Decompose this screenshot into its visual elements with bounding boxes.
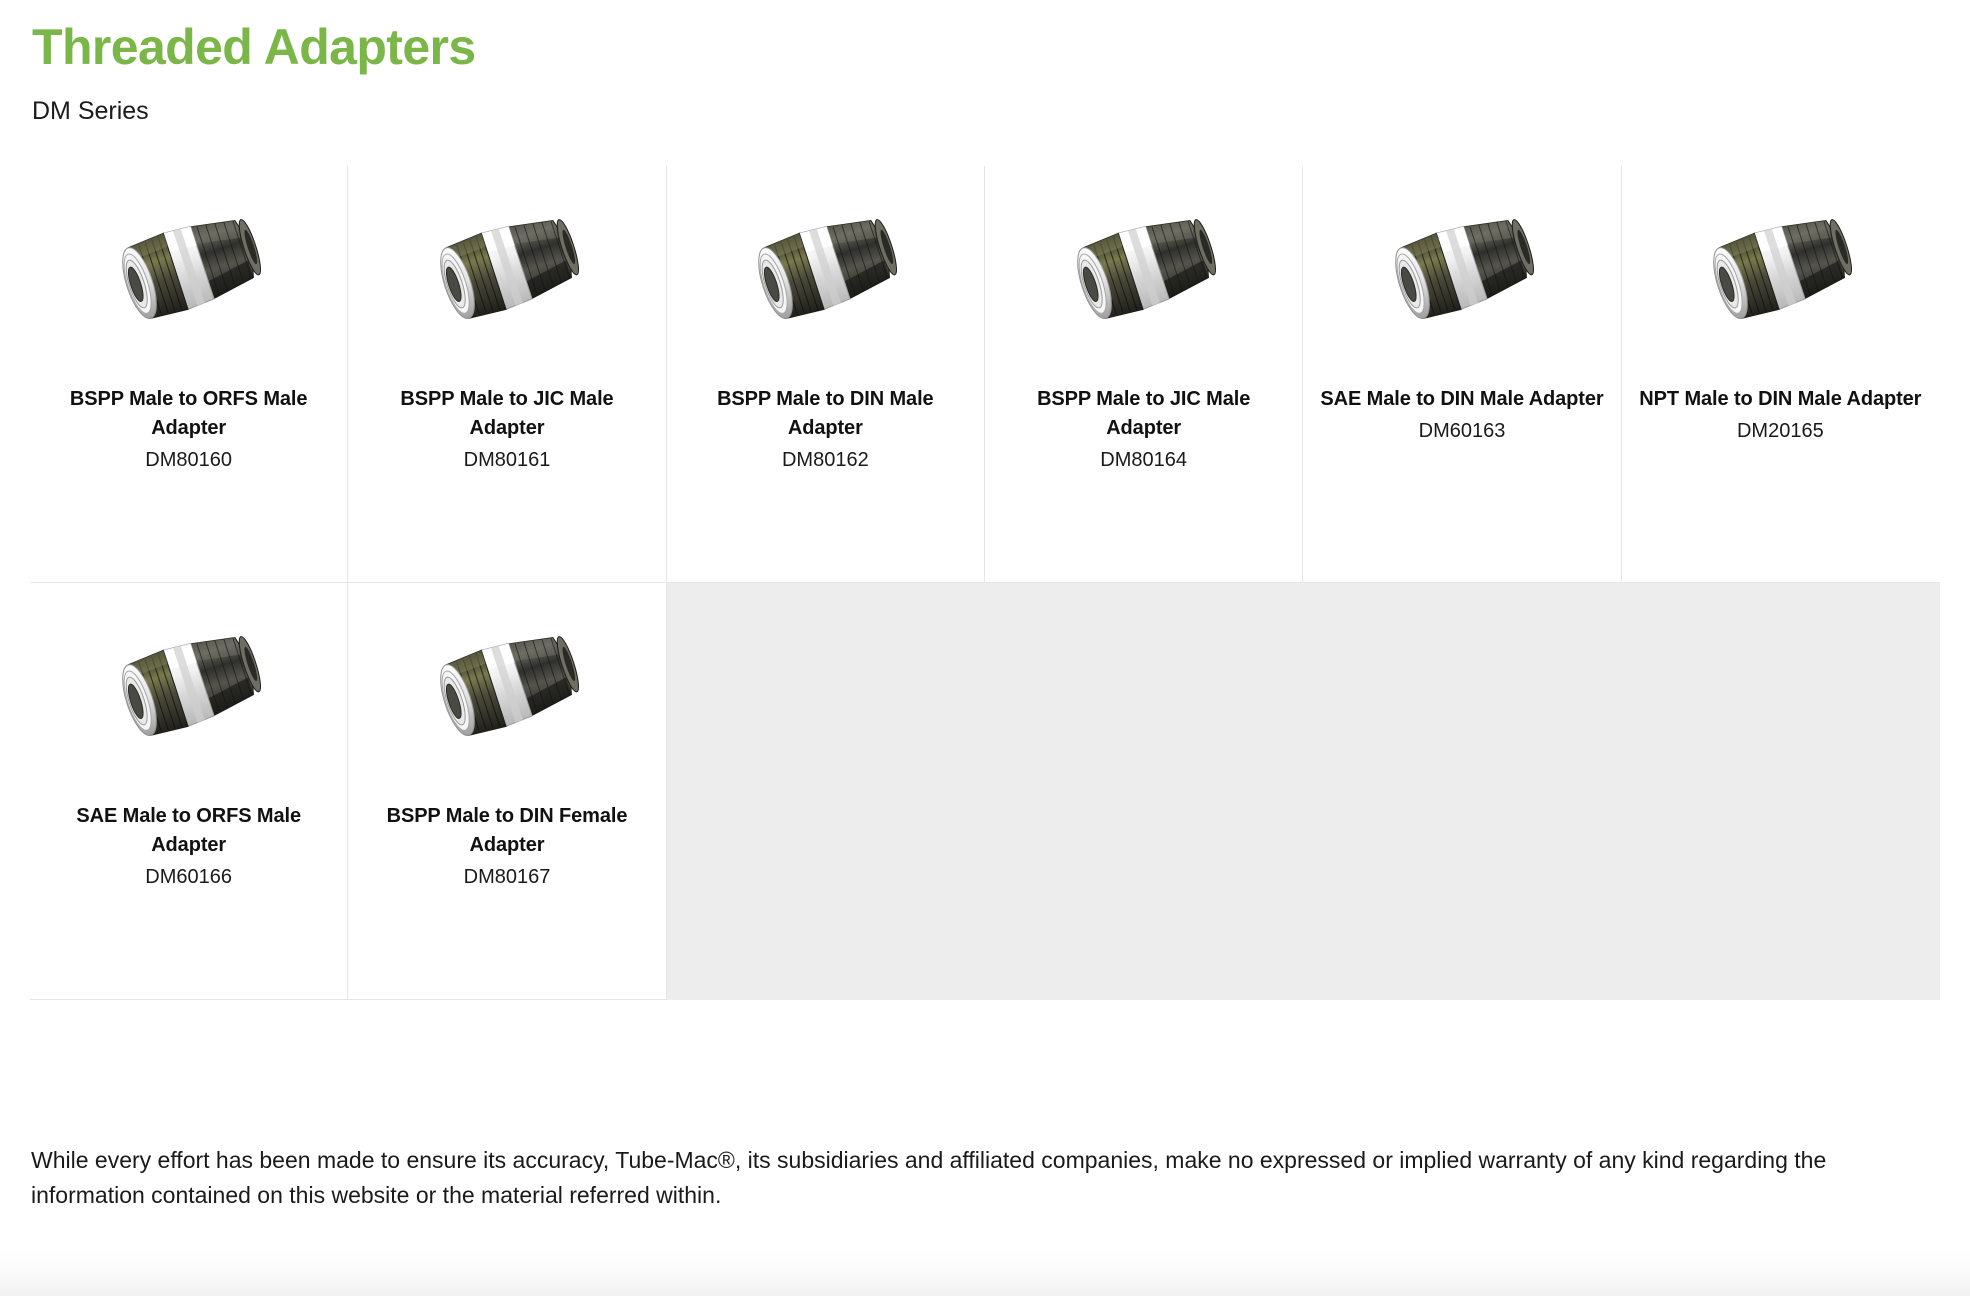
product-code: DM80164 [995, 446, 1292, 474]
product-name: BSPP Male to DIN Female Adapter [358, 802, 655, 860]
empty-grid-cell [1622, 583, 1940, 1000]
product-card-text: BSPP Male to DIN Male Adapter DM80162 [677, 385, 974, 474]
product-card-text: BSPP Male to JIC Male Adapter DM80164 [995, 385, 1292, 474]
product-card-text: SAE Male to DIN Male Adapter DM60163 [1313, 385, 1610, 445]
product-name: NPT Male to DIN Male Adapter [1632, 385, 1929, 414]
empty-grid-cell [1303, 583, 1621, 1000]
empty-grid-cell [667, 583, 985, 1000]
adapter-fitting-icon [84, 601, 294, 766]
page-title: Threaded Adapters [32, 18, 1970, 76]
product-code: DM80161 [358, 446, 655, 474]
product-card-DM80161[interactable]: BSPP Male to JIC Male Adapter DM80161 [348, 166, 666, 583]
product-card-DM60166[interactable]: SAE Male to ORFS Male Adapter DM60166 [30, 583, 348, 1000]
page-subtitle: DM Series [32, 96, 1970, 126]
product-name: SAE Male to ORFS Male Adapter [40, 802, 337, 860]
product-card-text: BSPP Male to JIC Male Adapter DM80161 [358, 385, 655, 474]
product-grid-wrapper: BSPP Male to ORFS Male Adapter DM80160 [0, 165, 1970, 1000]
product-card-text: NPT Male to DIN Male Adapter DM20165 [1632, 385, 1929, 445]
empty-grid-cell [985, 583, 1303, 1000]
product-card-DM60163[interactable]: SAE Male to DIN Male Adapter DM60163 [1303, 166, 1621, 583]
product-name: BSPP Male to JIC Male Adapter [995, 385, 1292, 443]
adapter-fitting-icon [402, 601, 612, 766]
disclaimer-text: While every effort has been made to ensu… [31, 1143, 1941, 1213]
product-code: DM80160 [40, 446, 337, 474]
product-card-DM80160[interactable]: BSPP Male to ORFS Male Adapter DM80160 [30, 166, 348, 583]
product-grid: BSPP Male to ORFS Male Adapter DM80160 [30, 165, 1940, 1000]
product-card-text: BSPP Male to ORFS Male Adapter DM80160 [40, 385, 337, 474]
adapter-fitting-icon [84, 184, 294, 349]
product-code: DM60166 [40, 863, 337, 891]
product-name: BSPP Male to DIN Male Adapter [677, 385, 974, 443]
product-code: DM80162 [677, 446, 974, 474]
product-card-DM80162[interactable]: BSPP Male to DIN Male Adapter DM80162 [667, 166, 985, 583]
product-card-DM80164[interactable]: BSPP Male to JIC Male Adapter DM80164 [985, 166, 1303, 583]
product-name: BSPP Male to JIC Male Adapter [358, 385, 655, 443]
page-header: Threaded Adapters DM Series [0, 0, 1970, 126]
adapter-fitting-icon [1357, 184, 1567, 349]
product-code: DM20165 [1632, 417, 1929, 445]
adapter-fitting-icon [720, 184, 930, 349]
adapter-fitting-icon [402, 184, 612, 349]
product-card-DM80167[interactable]: BSPP Male to DIN Female Adapter DM80167 [348, 583, 666, 1000]
product-card-text: SAE Male to ORFS Male Adapter DM60166 [40, 802, 337, 891]
product-code: DM60163 [1313, 417, 1610, 445]
product-catalog-page: Threaded Adapters DM Series [0, 0, 1970, 1296]
product-name: BSPP Male to ORFS Male Adapter [40, 385, 337, 443]
adapter-fitting-icon [1039, 184, 1249, 349]
product-code: DM80167 [358, 863, 655, 891]
product-card-DM20165[interactable]: NPT Male to DIN Male Adapter DM20165 [1622, 166, 1940, 583]
bottom-bar [0, 1250, 1970, 1296]
product-name: SAE Male to DIN Male Adapter [1313, 385, 1610, 414]
adapter-fitting-icon [1675, 184, 1885, 349]
product-card-text: BSPP Male to DIN Female Adapter DM80167 [358, 802, 655, 891]
